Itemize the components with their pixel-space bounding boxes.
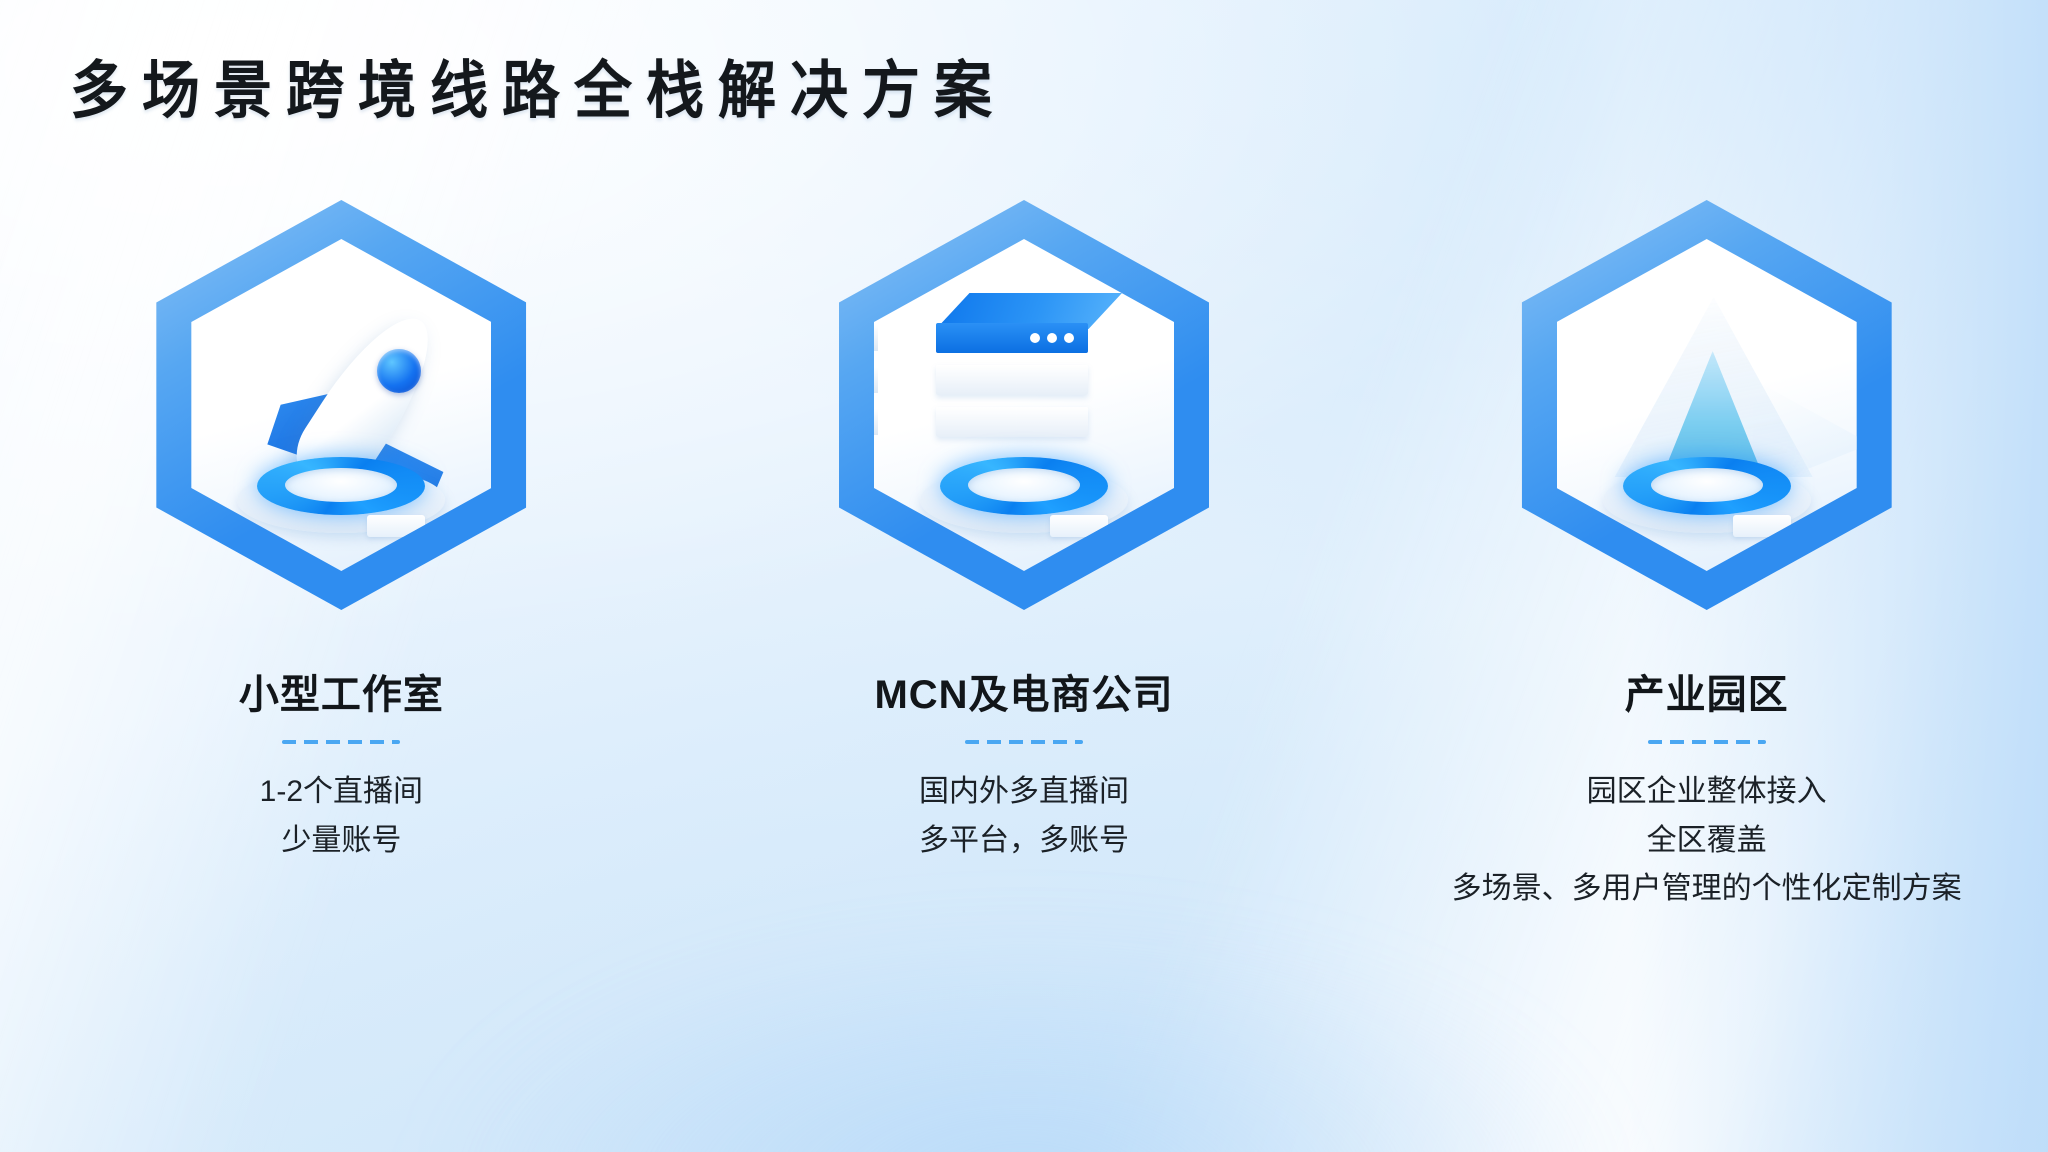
rocket-window	[377, 349, 421, 393]
scenario-card-industrial-park: 产业园区 园区企业整体接入 全区覆盖 多场景、多用户管理的个性化定制方案	[1365, 200, 2048, 1100]
base-ring-2	[920, 451, 1128, 537]
card-body: 园区企业整体接入 全区覆盖 多场景、多用户管理的个性化定制方案	[1452, 768, 1962, 914]
scenario-cards: 小型工作室 1-2个直播间 少量账号	[0, 200, 2048, 1100]
ring-hole	[968, 468, 1080, 502]
ring-hole	[1651, 468, 1763, 502]
server-bracket-top	[830, 325, 878, 351]
scenario-card-mcn-ecommerce: MCN及电商公司 国内外多直播间 多平台，多账号	[683, 200, 1366, 1100]
card-divider	[282, 740, 400, 744]
server-layer-bottom	[936, 407, 1088, 437]
server-bracket-middle	[830, 367, 878, 393]
hexagon-badge-3	[1522, 200, 1892, 610]
card-title: 产业园区	[1625, 662, 1789, 720]
base-ring-1	[237, 451, 445, 537]
card-line: 多平台，多账号	[919, 817, 1129, 866]
card-line: 少量账号	[260, 817, 423, 866]
ring-notch	[367, 515, 425, 537]
card-divider	[965, 740, 1083, 744]
ring-notch	[1050, 515, 1108, 537]
ring-hole	[285, 468, 397, 502]
server-layer-middle	[936, 365, 1088, 395]
card-body: 国内外多直播间 多平台，多账号	[919, 768, 1129, 865]
server-stack-icon	[874, 239, 1174, 571]
card-title: MCN及电商公司	[874, 662, 1173, 720]
scenario-card-small-studio: 小型工作室 1-2个直播间 少量账号	[0, 200, 683, 1100]
hexagon-badge-1	[156, 200, 526, 610]
hexagon-inner-3	[1557, 239, 1857, 571]
hexagon-inner-1	[191, 239, 491, 571]
card-title: 小型工作室	[239, 662, 444, 720]
card-line: 1-2个直播间	[260, 768, 423, 817]
hexagon-inner-2	[874, 239, 1174, 571]
card-line: 国内外多直播间	[919, 768, 1129, 817]
card-line: 多场景、多用户管理的个性化定制方案	[1452, 865, 1962, 914]
server-layer-top	[936, 323, 1088, 353]
hexagon-badge-2	[839, 200, 1209, 610]
glass-pyramid-icon	[1557, 239, 1857, 571]
ring-notch	[1733, 515, 1791, 537]
rocket-icon	[191, 239, 491, 571]
card-body: 1-2个直播间 少量账号	[260, 768, 423, 865]
card-line: 园区企业整体接入	[1452, 768, 1962, 817]
page-title: 多场景跨境线路全栈解决方案	[70, 56, 1006, 128]
card-divider	[1648, 740, 1766, 744]
title-section: 多场景跨境线路全栈解决方案	[70, 56, 1006, 123]
server-bracket-bottom	[830, 409, 878, 435]
server-status-dots	[1030, 333, 1074, 343]
card-line: 全区覆盖	[1452, 817, 1962, 866]
base-ring-3	[1603, 451, 1811, 537]
